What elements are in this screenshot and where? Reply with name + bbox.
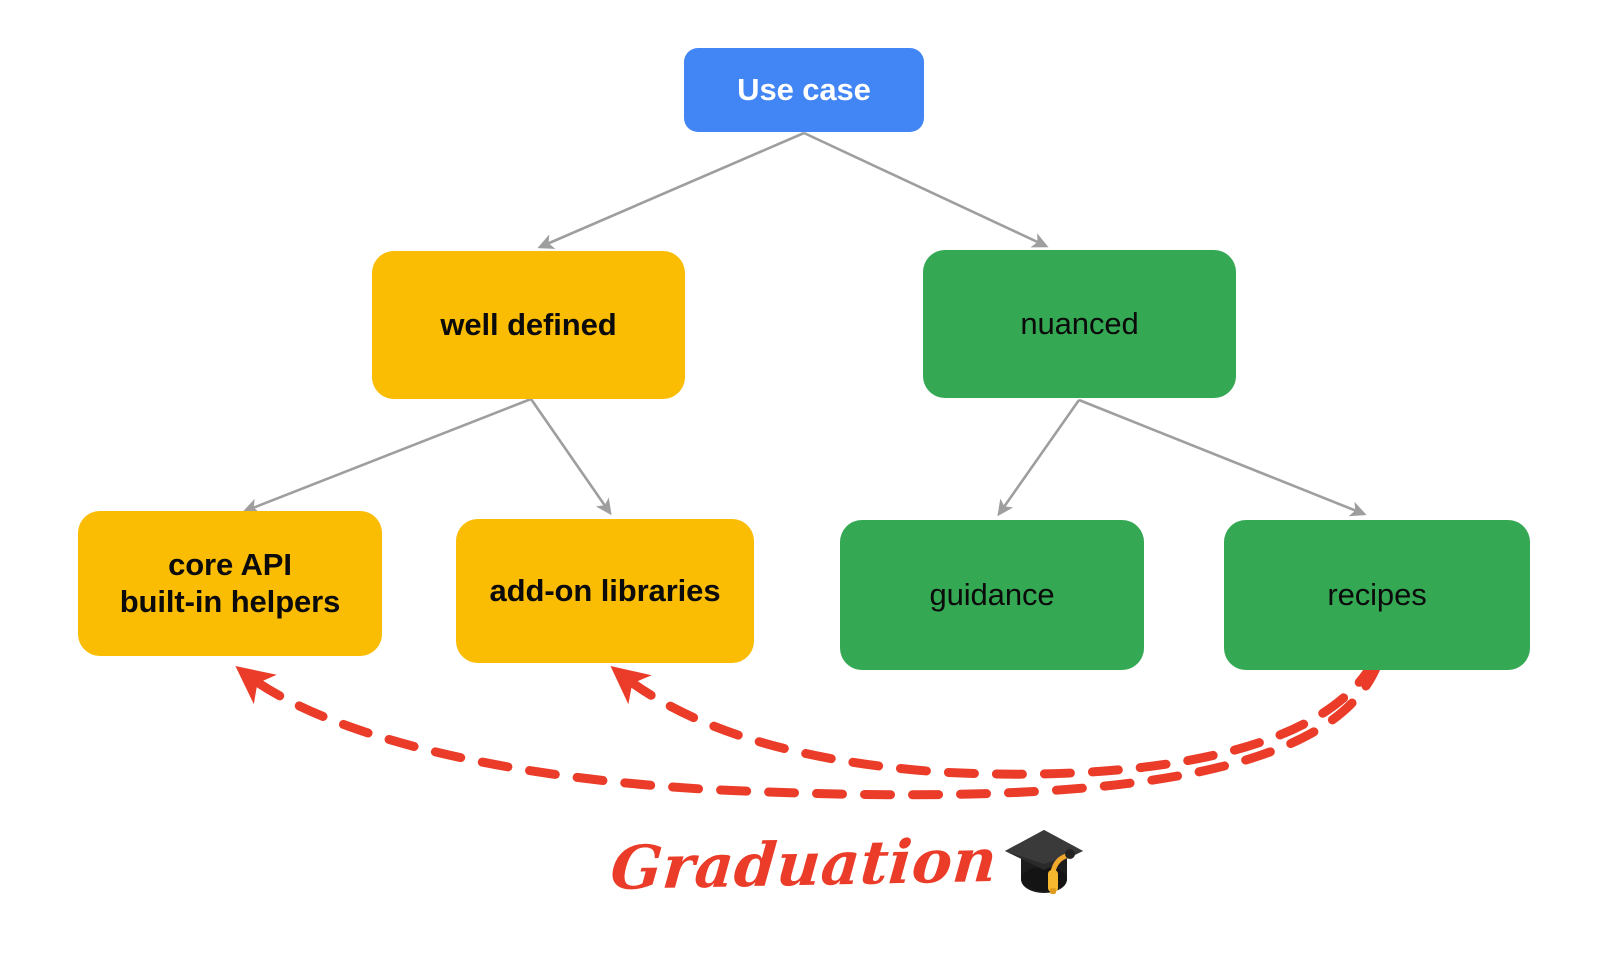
node-well-defined[interactable]: well defined [372, 251, 685, 399]
edge-nuanced-guidance [999, 400, 1079, 514]
node-well-defined-label: well defined [440, 307, 616, 344]
edge-usecase-welldefined [540, 133, 804, 247]
node-add-on-libraries[interactable]: add-on libraries [456, 519, 754, 663]
node-core-api-label: core API built-in helpers [120, 547, 341, 620]
node-use-case-label: Use case [737, 72, 871, 109]
node-core-api[interactable]: core API built-in helpers [78, 511, 382, 656]
edge-usecase-nuanced [804, 133, 1046, 246]
edge-nuanced-recipes [1079, 400, 1364, 514]
graduation-label: Graduation [608, 826, 1000, 904]
graduation-annotation: Graduation [608, 812, 1085, 904]
edge-recipes-addon-dashed [618, 661, 1374, 774]
node-nuanced[interactable]: nuanced [923, 250, 1236, 398]
node-nuanced-label: nuanced [1020, 306, 1138, 343]
edge-welldefined-coreapi [245, 399, 531, 511]
node-recipes[interactable]: recipes [1224, 520, 1530, 670]
node-guidance[interactable]: guidance [840, 520, 1144, 670]
diagram-canvas: Use case well defined nuanced core API b… [0, 0, 1600, 963]
node-add-on-libraries-label: add-on libraries [490, 573, 721, 610]
node-use-case[interactable]: Use case [684, 48, 924, 132]
graduation-cap-icon [999, 824, 1085, 898]
node-guidance-label: guidance [929, 577, 1054, 614]
node-recipes-label: recipes [1327, 577, 1426, 614]
edge-welldefined-addon [531, 399, 610, 513]
edge-recipes-coreapi-dashed [243, 663, 1378, 795]
